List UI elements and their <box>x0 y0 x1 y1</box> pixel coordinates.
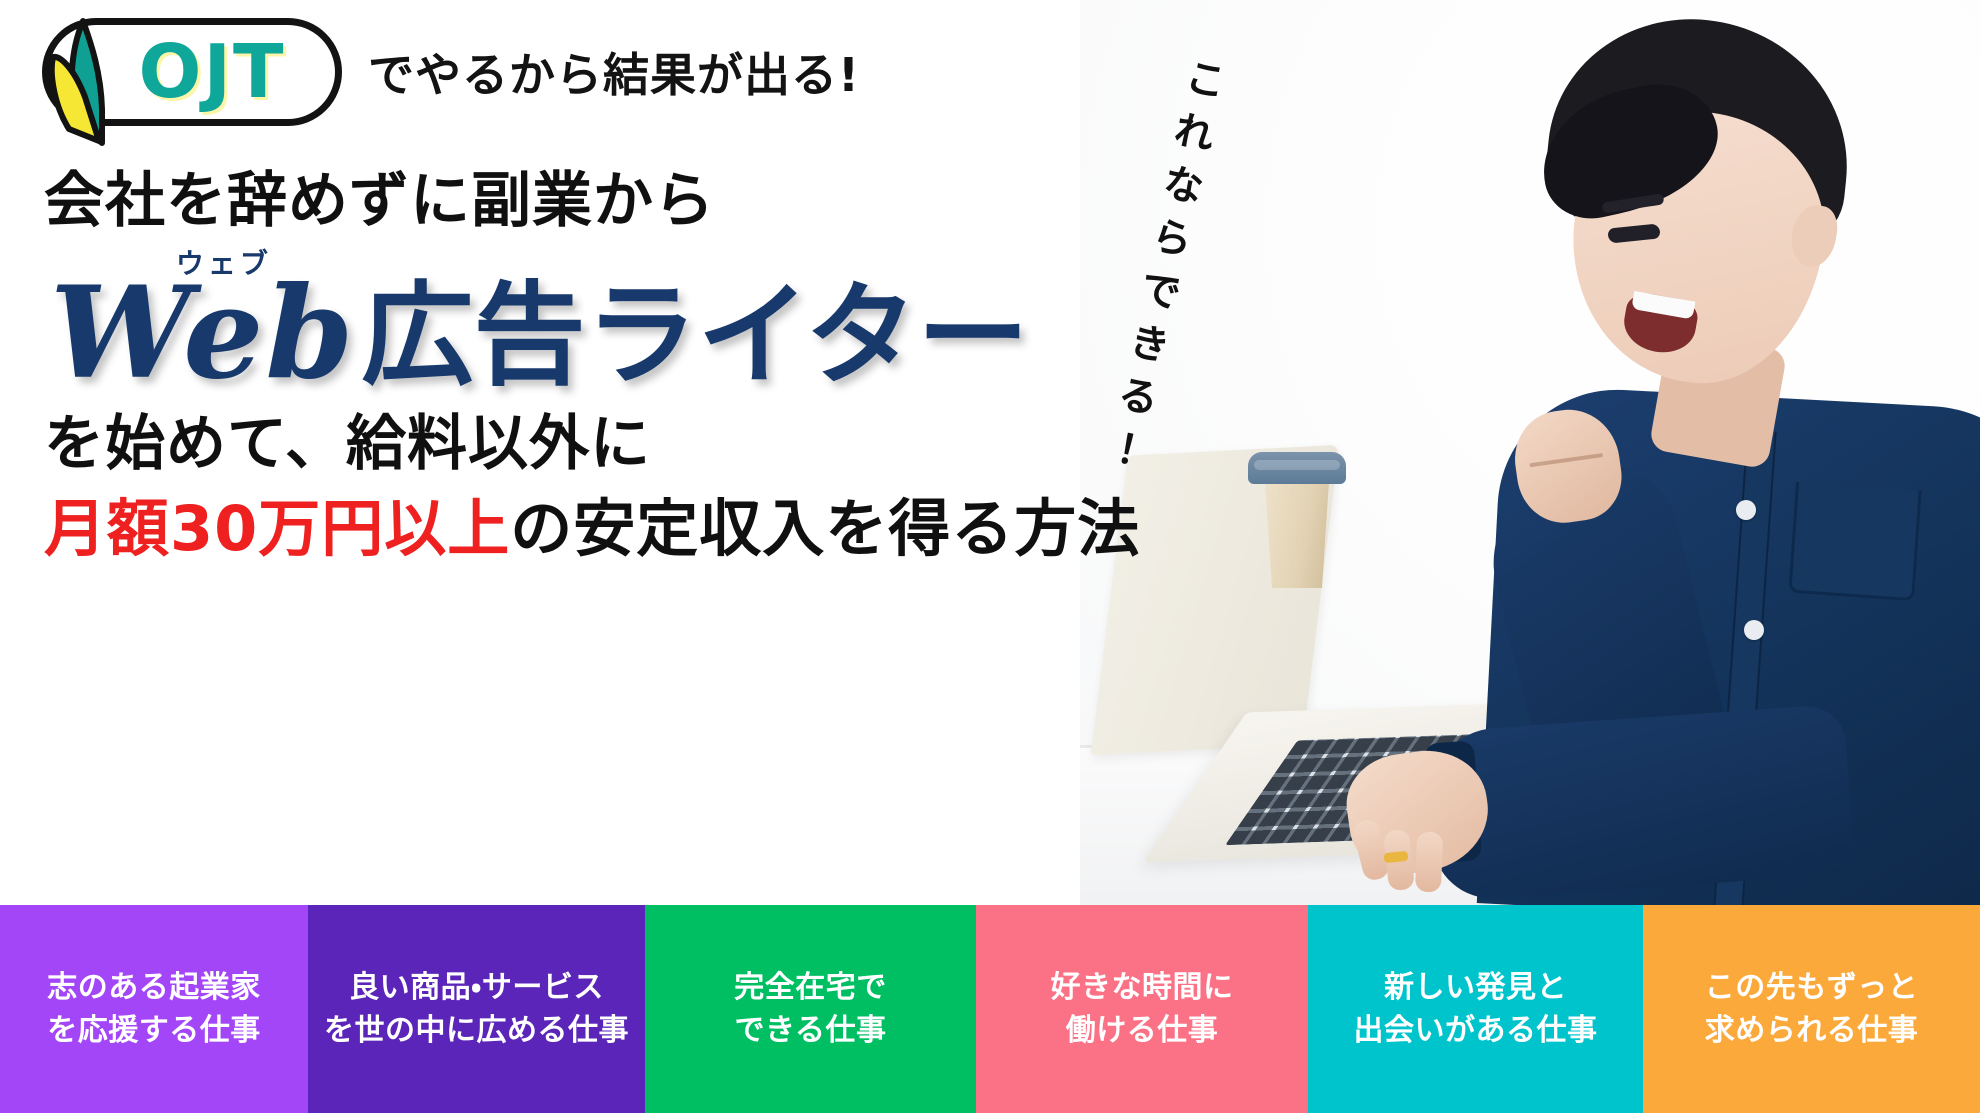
person-photo <box>1340 0 1980 905</box>
ojt-badge-row: OJT でやるから結果が出る! <box>42 18 860 126</box>
benefit-bar-1[interactable]: 志のある起業家 を応援する仕事 <box>0 905 308 1113</box>
benefit-bar-4-line-1: 好きな時間に <box>1051 966 1234 1010</box>
benefit-bar-3-line-2: できる仕事 <box>734 1009 887 1053</box>
benefit-bar-1-line-2: を応援する仕事 <box>47 1009 261 1053</box>
ruby-text: ウェブ <box>176 242 272 282</box>
benefit-bar-6[interactable]: この先もずっと 求められる仕事 <box>1643 905 1980 1113</box>
benefit-bar-5[interactable]: 新しい発見と 出会いがある仕事 <box>1308 905 1643 1113</box>
benefit-bar-5-line-1: 新しい発見と <box>1354 966 1598 1010</box>
shirt-button <box>1744 620 1764 640</box>
headline-line-1: 会社を辞めずに副業から <box>44 152 715 239</box>
benefit-bar-2[interactable]: 良い商品・サービス を世の中に広める仕事 <box>308 905 645 1113</box>
shirt-button <box>1736 500 1756 520</box>
finger <box>1415 832 1443 893</box>
keyword-text: 広告ライター <box>362 280 1030 396</box>
lower-arm <box>1425 704 1856 903</box>
ojt-tagline: でやるから結果が出る! <box>368 39 860 105</box>
income-rest: の安定収入を得る方法 <box>510 492 1140 565</box>
benefit-bar-3[interactable]: 完全在宅で できる仕事 <box>645 905 976 1113</box>
shirt-pocket <box>1788 482 1921 602</box>
headline-keyword-line: ウェブ Web 広告ライター <box>44 236 1029 396</box>
benefit-bar-6-line-2: 求められる仕事 <box>1705 1009 1919 1053</box>
headline-line-4: 月額30万円以上の安定収入を得る方法 <box>44 478 1140 568</box>
headline-block: OJT でやるから結果が出る! 会社を辞めずに副業から ウェブ Web 広告ライ… <box>0 0 1180 905</box>
income-amount: 月額30万円以上 <box>44 492 510 565</box>
ojt-badge: OJT <box>42 18 342 126</box>
benefit-bar-4-line-2: 働ける仕事 <box>1051 1009 1234 1053</box>
ojt-logo-text: OJT <box>99 35 286 109</box>
benefit-bar-2-line-2: を世の中に広める仕事 <box>324 1009 629 1053</box>
benefit-bar-3-line-1: 完全在宅で <box>734 966 887 1010</box>
benefit-bar-strip: 志のある起業家 を応援する仕事 良い商品・サービス を世の中に広める仕事 完全在… <box>0 905 1980 1113</box>
benefit-bar-1-line-1: 志のある起業家 <box>47 966 261 1010</box>
benefit-bar-4[interactable]: 好きな時間に 働ける仕事 <box>976 905 1308 1113</box>
coffee-cup-lid <box>1248 452 1346 484</box>
web-with-ruby: ウェブ Web <box>44 236 362 396</box>
hero-banner: OJT でやるから結果が出る! 会社を辞めずに副業から ウェブ Web 広告ライ… <box>0 0 1980 1113</box>
benefit-bar-2-line-1: 良い商品・サービス <box>324 966 629 1010</box>
benefit-bar-5-line-2: 出会いがある仕事 <box>1354 1009 1598 1053</box>
benefit-bar-6-line-1: この先もずっと <box>1705 966 1919 1010</box>
headline-line-3: を始めて、給料以外に <box>44 395 651 482</box>
